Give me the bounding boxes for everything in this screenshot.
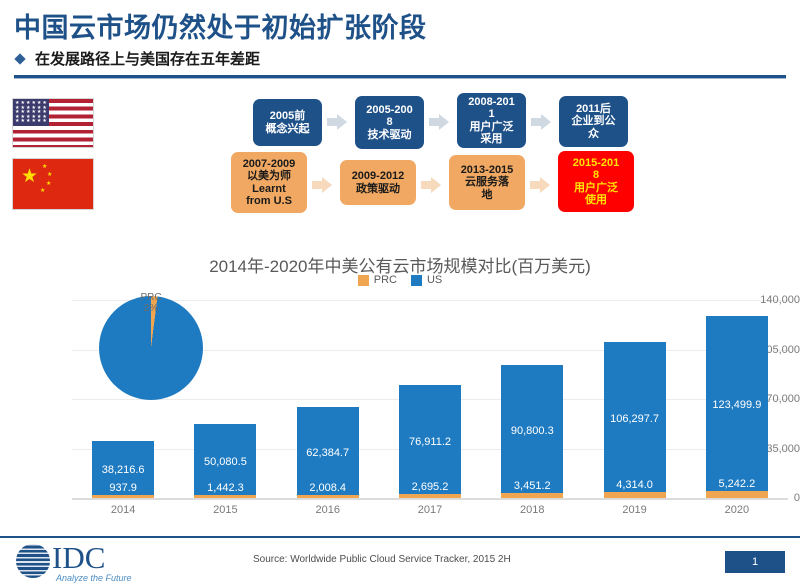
pie-slice-label: PRC 2% xyxy=(140,293,161,314)
timeline-cn-arrow-1 xyxy=(312,177,332,193)
timeline-us-box-1-line2: 概念兴起 xyxy=(266,123,310,135)
page-number-badge: 1 xyxy=(725,551,785,573)
timeline-us-arrow-1 xyxy=(327,114,347,130)
bar-label-prc-2020: 5,242.2 xyxy=(718,478,755,490)
timeline-cn-box-4-line2: 8 xyxy=(573,169,620,181)
timeline-us-box-2[interactable]: 2005-200 8 技术驱动 xyxy=(355,96,424,149)
timeline-cn-arrow-3 xyxy=(530,177,550,193)
timeline-us-box-1-line1: 2005前 xyxy=(266,110,310,122)
legend-label-us: US xyxy=(427,274,442,286)
timeline-us-box-3-line2: 1 xyxy=(468,108,515,120)
bar-label-us-2017: 76,911.2 xyxy=(409,436,451,448)
timeline-us-box-4-line2: 企业到公 xyxy=(572,115,616,127)
timeline-cn-box-1-line3: Learnt xyxy=(243,183,296,195)
timeline-cn-box-3-line3: 地 xyxy=(461,189,514,201)
page-title: 中国云市场仍然处于初始扩张阶段 xyxy=(14,6,427,45)
bar-prc-2018[interactable] xyxy=(501,493,563,498)
bar-prc-2017[interactable] xyxy=(399,494,461,498)
flag-small-star-3: ★ xyxy=(46,181,51,187)
timeline-us-box-2-line3: 技术驱动 xyxy=(366,129,413,141)
timeline-us-arrow-3 xyxy=(531,114,551,130)
china-flag-icon: ★ ★ ★ ★ ★ xyxy=(12,158,94,210)
bar-label-prc-2019: 4,314.0 xyxy=(616,479,653,491)
bar-label-us-2018: 90,800.3 xyxy=(511,425,554,437)
timeline-us-box-3-line1: 2008-201 xyxy=(468,96,515,108)
united-states-flag-icon: ★★★★★★★★★★★★★★★★★★★★★★★★★★★★★★★★★★★★★★★★… xyxy=(12,98,94,148)
timeline-cn-box-1-line2: 以美为师 xyxy=(243,170,296,182)
timeline-us-box-3-line4: 采用 xyxy=(468,133,515,145)
x-tick-label-2020: 2020 xyxy=(725,504,749,516)
timeline-cn-box-2-line1: 2009-2012 xyxy=(352,170,405,182)
pie-slice-label-value: 2% xyxy=(140,304,161,315)
timeline-us-box-3-line3: 用户广泛 xyxy=(468,121,515,133)
slide-root: 中国云市场仍然处于初始扩张阶段 在发展路径上与美国存在五年差距 ★★★★★★★★… xyxy=(0,0,800,584)
bar-prc-2020[interactable] xyxy=(706,491,768,498)
bar-label-us-2014: 38,216.6 xyxy=(102,464,145,476)
timeline-cn-box-2-line2: 政策驱动 xyxy=(352,183,405,195)
bar-label-prc-2018: 3,451.2 xyxy=(514,480,551,492)
flag-stars: ★★★★★★★★★★★★★★★★★★★★★★★★★★★★★★★★★★★★★★★★… xyxy=(15,101,47,124)
legend-swatch-us xyxy=(411,275,422,286)
flag-canton: ★★★★★★★★★★★★★★★★★★★★★★★★★★★★★★★★★★★★★★★★… xyxy=(13,99,49,126)
chart-x-axis-line xyxy=(72,498,788,500)
bar-prc-2015[interactable] xyxy=(194,495,256,498)
flag-big-star: ★ xyxy=(21,167,38,186)
timeline-us-box-4[interactable]: 2011后 企业到公 众 xyxy=(559,96,628,147)
idc-wordmark: IDC xyxy=(52,542,105,573)
bar-label-us-2020: 123,499.9 xyxy=(712,399,761,411)
timeline-cn-box-1-line1: 2007-2009 xyxy=(243,158,296,170)
timeline-cn-arrow-2 xyxy=(421,177,441,193)
timeline-cn-box-4[interactable]: 2015-201 8 用户广泛 使用 xyxy=(558,151,634,212)
footer-divider xyxy=(0,536,800,538)
x-tick-label-2016: 2016 xyxy=(315,504,339,516)
timeline-cn-box-2[interactable]: 2009-2012 政策驱动 xyxy=(340,160,416,205)
pie-chart-overlay: PRC 2% xyxy=(99,296,203,400)
timeline-cn-box-1[interactable]: 2007-2009 以美为师 Learnt from U.S xyxy=(231,152,307,213)
bar-group-2016[interactable]: 62,384.72,008.4 xyxy=(297,300,359,498)
bar-group-2015[interactable]: 50,080.51,442.3 xyxy=(194,300,256,498)
x-tick-label-2017: 2017 xyxy=(418,504,442,516)
bar-group-2020[interactable]: 123,499.95,242.2 xyxy=(706,300,768,498)
flag-small-star-4: ★ xyxy=(40,188,45,194)
legend-label-prc: PRC xyxy=(374,274,397,286)
subtitle-row: 在发展路径上与美国存在五年差距 xyxy=(16,48,260,69)
legend-item-prc[interactable]: PRC xyxy=(358,274,397,286)
subtitle-text: 在发展路径上与美国存在五年差距 xyxy=(35,48,260,69)
timeline-us-box-3[interactable]: 2008-201 1 用户广泛 采用 xyxy=(457,93,526,148)
bar-label-prc-2014: 937.9 xyxy=(109,482,137,494)
x-tick-label-2019: 2019 xyxy=(622,504,646,516)
legend-swatch-prc xyxy=(358,275,369,286)
chart-legend: PRC US xyxy=(0,274,800,286)
timeline-us-box-2-line2: 8 xyxy=(366,116,413,128)
timeline-us-box-4-line1: 2011后 xyxy=(572,103,616,115)
diamond-bullet-icon xyxy=(14,53,25,64)
x-tick-label-2018: 2018 xyxy=(520,504,544,516)
timeline-cn-box-4-line3: 用户广泛 xyxy=(573,182,620,194)
timeline-us-box-2-line1: 2005-200 xyxy=(366,104,413,116)
bar-label-us-2015: 50,080.5 xyxy=(204,456,247,468)
x-tick-label-2015: 2015 xyxy=(213,504,237,516)
bar-label-prc-2016: 2,008.4 xyxy=(309,482,346,494)
bar-group-2017[interactable]: 76,911.22,695.2 xyxy=(399,300,461,498)
bar-prc-2014[interactable] xyxy=(92,495,154,498)
legend-item-us[interactable]: US xyxy=(411,274,442,286)
timeline-us-arrow-2 xyxy=(429,114,449,130)
timeline-cn-box-3-line2: 云服务落 xyxy=(461,176,514,188)
timeline-cn-box-3-line1: 2013-2015 xyxy=(461,164,514,176)
x-tick-label-2014: 2014 xyxy=(111,504,135,516)
bar-group-2019[interactable]: 106,297.74,314.0 xyxy=(604,300,666,498)
timeline-cn-box-1-line4: from U.S xyxy=(243,195,296,207)
idc-logo: IDC Analyze the Future xyxy=(14,540,194,582)
pie-slice-label-name: PRC xyxy=(140,293,161,304)
timeline-cn-box-3[interactable]: 2013-2015 云服务落 地 xyxy=(449,155,525,210)
globe-icon xyxy=(16,544,50,578)
bar-label-prc-2017: 2,695.2 xyxy=(412,481,449,493)
bar-prc-2016[interactable] xyxy=(297,495,359,498)
bar-label-us-2016: 62,384.7 xyxy=(306,447,349,459)
bar-group-2018[interactable]: 90,800.33,451.2 xyxy=(501,300,563,498)
bar-label-prc-2015: 1,442.3 xyxy=(207,482,244,494)
timeline-us-box-1[interactable]: 2005前 概念兴起 xyxy=(253,99,322,146)
timeline-us-box-4-line3: 众 xyxy=(572,128,616,140)
timeline-cn-box-4-line1: 2015-201 xyxy=(573,157,620,169)
bar-prc-2019[interactable] xyxy=(604,492,666,498)
header-divider-secondary xyxy=(14,78,786,79)
timeline-cn-box-4-line4: 使用 xyxy=(573,194,620,206)
source-note: Source: Worldwide Public Cloud Service T… xyxy=(253,554,511,565)
bar-label-us-2019: 106,297.7 xyxy=(610,413,659,425)
flag-small-star-1: ★ xyxy=(42,164,47,170)
idc-tagline: Analyze the Future xyxy=(56,573,132,583)
flag-small-star-2: ★ xyxy=(47,172,52,178)
